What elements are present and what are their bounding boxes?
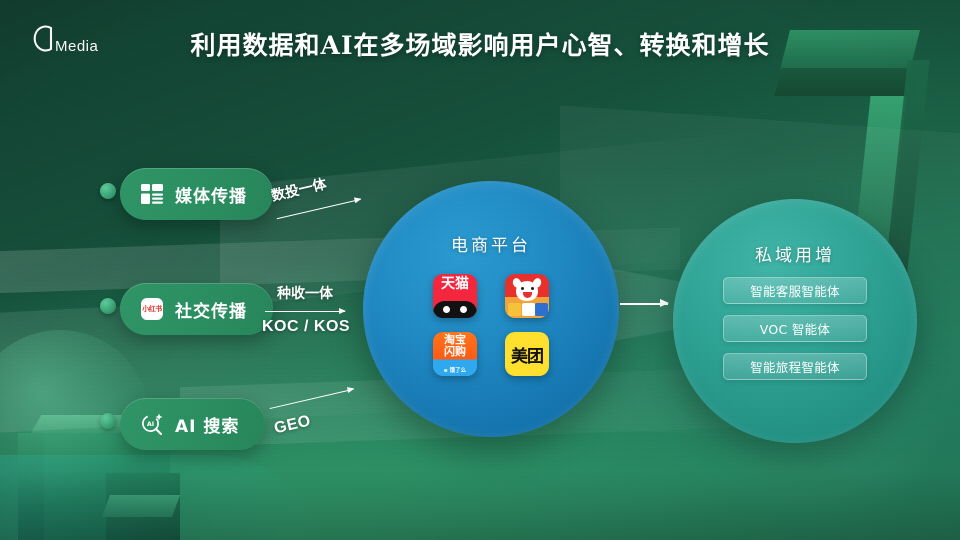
- private-domain-circle: 私域用增 智能客服智能体 VOC 智能体 智能旅程智能体: [673, 199, 917, 443]
- connector-social: 种收一体 KOC / KOS: [262, 283, 350, 336]
- svg-text:AI: AI: [147, 420, 154, 428]
- taobao-shangou-icon[interactable]: 淘宝 闪购 e 饿了么: [433, 332, 477, 376]
- tmall-cat-shape: [433, 301, 477, 318]
- xiaohongshu-icon: 小红书: [140, 297, 164, 321]
- channel-pill-social[interactable]: 小红书 社交传播: [120, 283, 273, 335]
- connector-arrow-social: [265, 311, 345, 312]
- channel-pill-aisearch[interactable]: AI AI 搜索: [120, 398, 265, 450]
- ecommerce-app-grid: 天猫 淘宝 闪购 e 饿了么: [413, 274, 569, 376]
- connector-label-social-en: KOC / KOS: [262, 318, 350, 336]
- tmall-icon[interactable]: 天猫: [433, 274, 477, 318]
- jd-eye-right: [531, 287, 534, 290]
- jd-box-white: [522, 303, 535, 316]
- jd-icon[interactable]: [505, 274, 549, 318]
- taobao-line1: 淘宝: [433, 334, 477, 345]
- jd-eye-left: [521, 287, 524, 290]
- tmall-eye-left: [443, 306, 450, 313]
- connector-label-media: 数投一体: [269, 167, 357, 206]
- private-domain-title: 私域用增: [673, 241, 917, 266]
- ai-search-icon: AI: [140, 412, 164, 436]
- channel-dot-social: [100, 298, 116, 314]
- agent-chip-service[interactable]: 智能客服智能体: [723, 277, 867, 304]
- jd-box-yellow: [508, 303, 521, 316]
- agent-chip-list: 智能客服智能体 VOC 智能体 智能旅程智能体: [723, 277, 867, 380]
- channel-pill-media[interactable]: 媒体传播: [120, 168, 273, 220]
- layout-grid-icon: [140, 182, 164, 206]
- meituan-label: 美团: [511, 342, 543, 367]
- channel-dot-aisearch: [100, 413, 116, 429]
- decor-seven-shadow: [775, 68, 922, 96]
- slide-canvas: Media 利用数据和AI在多场域影响用户心智、转换和增长 媒体传播 小红书 社…: [0, 0, 960, 540]
- jd-dog-head: [516, 281, 538, 301]
- channel-label-social: 社交传播: [175, 297, 247, 322]
- meituan-icon[interactable]: 美团: [505, 332, 549, 376]
- taobao-line3: e 饿了么: [433, 367, 477, 375]
- page-title: 利用数据和AI在多场域影响用户心智、转换和增长: [0, 26, 960, 62]
- agent-chip-voc[interactable]: VOC 智能体: [723, 315, 867, 342]
- channel-dot-media: [100, 183, 116, 199]
- taobao-line2: 闪购: [433, 346, 477, 357]
- ecommerce-title: 电商平台: [363, 231, 619, 256]
- channel-label-aisearch: AI 搜索: [175, 412, 239, 437]
- tmall-label: 天猫: [433, 277, 477, 291]
- decor-plane-floor: [0, 470, 960, 540]
- jd-box-blue: [535, 303, 548, 316]
- connector-label-social-cn: 种收一体: [262, 283, 348, 303]
- ecommerce-circle: 电商平台 天猫 淘宝 闪购 e 饿: [363, 181, 619, 437]
- right-arrow-icon: [620, 303, 668, 305]
- agent-chip-journey[interactable]: 智能旅程智能体: [723, 353, 867, 380]
- channel-label-media: 媒体传播: [175, 182, 247, 207]
- tmall-eye-right: [460, 306, 467, 313]
